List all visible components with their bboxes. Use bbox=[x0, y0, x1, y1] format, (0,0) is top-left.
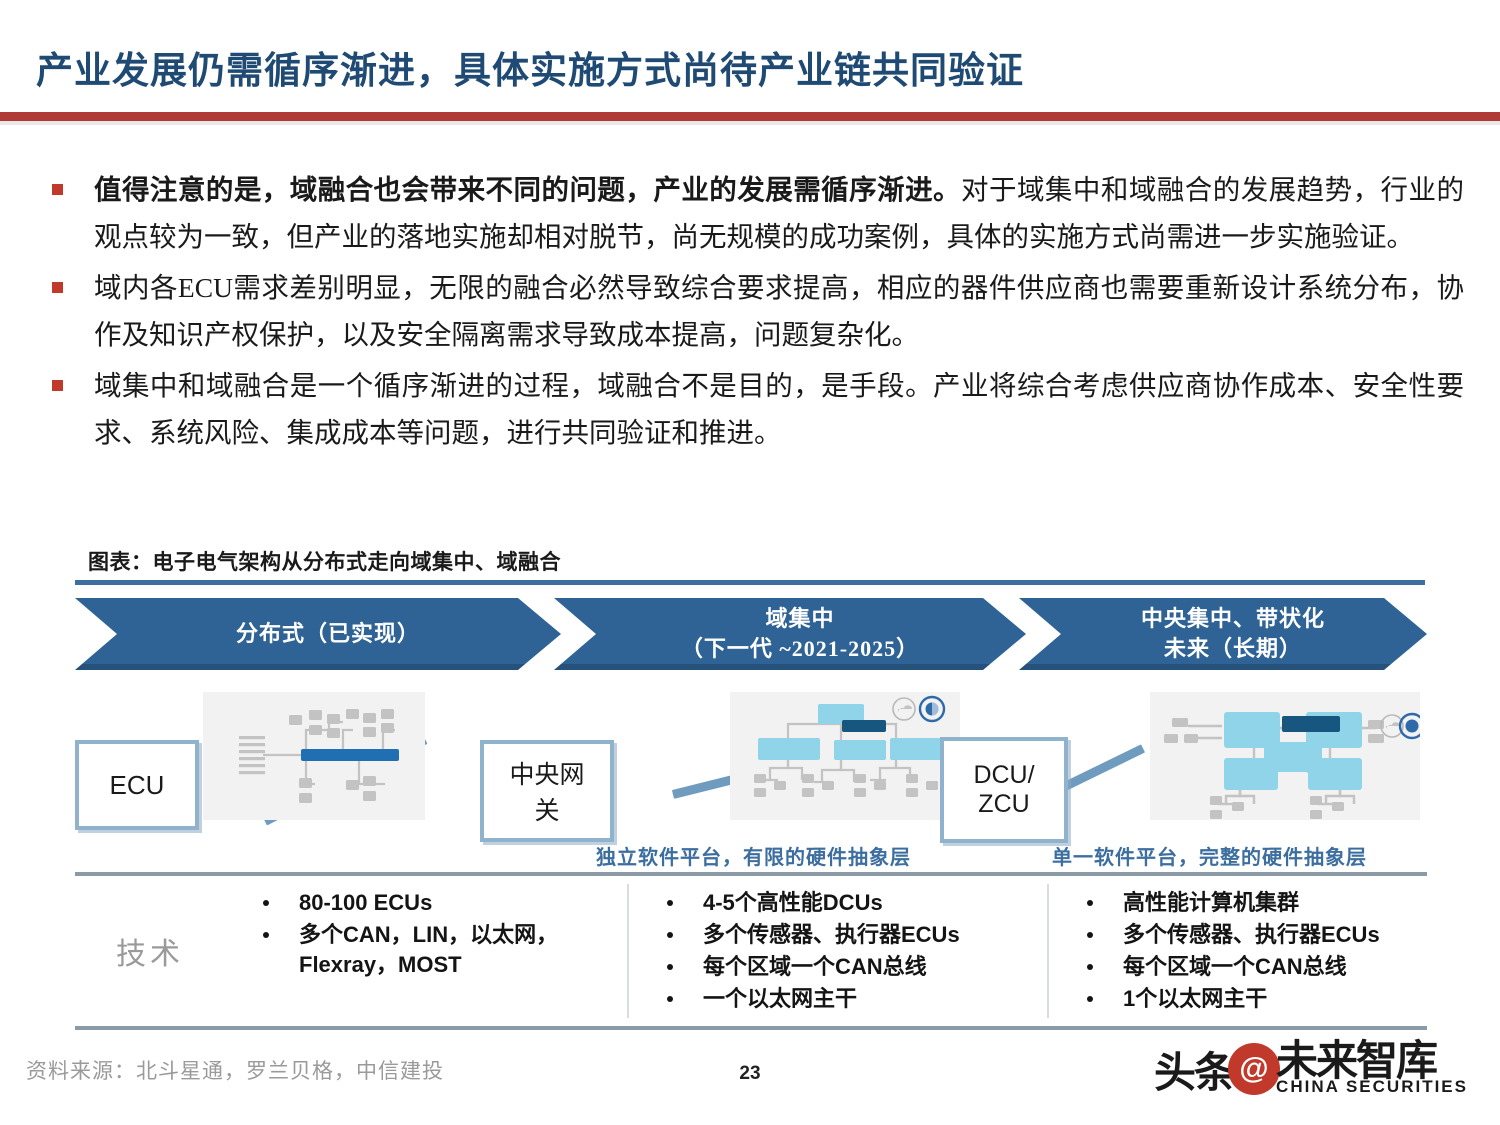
list-item: 4-5个高性能DCUs bbox=[629, 888, 1049, 918]
bullet-bold-text: 值得注意的是，域融合也会带来不同的问题，产业的发展需循序渐进。 bbox=[94, 174, 961, 205]
diagram-thumb-domain-centralized bbox=[730, 692, 960, 820]
table-bottom-rule bbox=[75, 1026, 1427, 1030]
list-item-label: 多个传感器、执行器ECUs bbox=[1123, 920, 1427, 950]
list-item-label: 高性能计算机集群 bbox=[1123, 888, 1427, 918]
logo-right-group: 未来智库 CHINA SECURITIES bbox=[1276, 1041, 1468, 1097]
table-row-label: 技术 bbox=[75, 876, 225, 1026]
stage-label-line1: 分布式（已实现） bbox=[236, 619, 420, 649]
header-rule bbox=[0, 112, 1500, 121]
cloud-icon bbox=[893, 698, 915, 720]
chevron-shadow bbox=[554, 664, 1026, 670]
annotation-central-zonal: 单一软件平台，完整的硬件抽象层 bbox=[1052, 841, 1367, 870]
connectivity-icon bbox=[920, 697, 944, 721]
list-item: 高性能计算机集群 bbox=[1049, 888, 1427, 918]
callout-label-line1: 中央网 bbox=[509, 755, 584, 791]
stage-banner: 分布式（已实现） 域集中 （下一代 ~2021-2025） 中央集中、带状化 未… bbox=[75, 598, 1427, 670]
logo-subtitle: CHINA SECURITIES bbox=[1276, 1077, 1468, 1097]
list-bullet-icon bbox=[667, 996, 673, 1002]
table-cell-distributed: 80-100 ECUs 多个CAN，LIN，以太网，Flexray，MOST bbox=[225, 876, 629, 1026]
callout-ecu: ECU bbox=[75, 740, 199, 830]
list-item-label: 多个传感器、执行器ECUs bbox=[703, 920, 1049, 950]
page-title: 产业发展仍需循序渐进，具体实施方式尚待产业链共同验证 bbox=[36, 40, 1336, 94]
slide-root: 产业发展仍需循序渐进，具体实施方式尚待产业链共同验证 值得注意的是，域融合也会带… bbox=[0, 0, 1500, 1125]
technology-table: 技术 80-100 ECUs 多个CAN，LIN，以太网，Flexray，MOS… bbox=[75, 872, 1427, 1030]
bullet-list: 值得注意的是，域融合也会带来不同的问题，产业的发展需循序渐进。对于域集中和域融合… bbox=[52, 166, 1464, 460]
list-item: 每个区域一个CAN总线 bbox=[1049, 952, 1427, 982]
bullet-item: 域内各ECU需求差别明显，无限的融合必然导致综合要求提高，相应的器件供应商也需要… bbox=[52, 264, 1464, 358]
table-cell-central-zonal: 高性能计算机集群 多个传感器、执行器ECUs 每个区域一个CAN总线 1个以太网… bbox=[1049, 876, 1427, 1026]
seal-icon: @ bbox=[1228, 1043, 1280, 1095]
bullet-item: 域集中和域融合是一个循序渐进的过程，域融合不是目的，是手段。产业将综合考虑供应商… bbox=[52, 362, 1464, 456]
list-bullet-icon bbox=[1087, 996, 1093, 1002]
stage-chevron-central-zonal: 中央集中、带状化 未来（长期） bbox=[1019, 598, 1427, 670]
list-item-label: 每个区域一个CAN总线 bbox=[1123, 952, 1427, 982]
chevron-shadow bbox=[1019, 664, 1427, 670]
bullet-item: 值得注意的是，域融合也会带来不同的问题，产业的发展需循序渐进。对于域集中和域融合… bbox=[52, 166, 1464, 260]
callout-label-line1: DCU/ bbox=[973, 761, 1034, 790]
list-item-label: 一个以太网主干 bbox=[703, 984, 1049, 1014]
figure-caption: 图表：电子电气架构从分布式走向域集中、域融合 bbox=[88, 546, 561, 576]
bullet-text: 域内各ECU需求差别明显，无限的融合必然导致综合要求提高，相应的器件供应商也需要… bbox=[94, 264, 1464, 358]
logo-text-left: 头条 bbox=[1154, 1039, 1234, 1100]
stage-label-line2: （下一代 ~2021-2025） bbox=[681, 634, 919, 664]
list-item: 多个CAN，LIN，以太网，Flexray，MOST bbox=[225, 920, 629, 980]
diagram-thumb-central-zonal bbox=[1150, 692, 1420, 820]
header-rule-shadow bbox=[0, 121, 1500, 125]
stage-label-line1: 域集中 bbox=[681, 604, 919, 634]
stage-chevron-domain-centralized: 域集中 （下一代 ~2021-2025） bbox=[554, 598, 1026, 670]
list-item: 多个传感器、执行器ECUs bbox=[1049, 920, 1427, 950]
bullet-square-icon bbox=[52, 282, 63, 293]
stage-chevron-distributed: 分布式（已实现） bbox=[75, 598, 561, 670]
list-item-label: 多个CAN，LIN，以太网，Flexray，MOST bbox=[299, 920, 629, 980]
list-item: 每个区域一个CAN总线 bbox=[629, 952, 1049, 982]
bullet-rest-text: 域内各ECU需求差别明显，无限的融合必然导致综合要求提高，相应的器件供应商也需要… bbox=[94, 272, 1464, 350]
table-row: 技术 80-100 ECUs 多个CAN，LIN，以太网，Flexray，MOS… bbox=[75, 876, 1427, 1026]
list-bullet-icon bbox=[1087, 964, 1093, 970]
list-item-label: 1个以太网主干 bbox=[1123, 984, 1427, 1014]
figure-caption-rule bbox=[75, 580, 1425, 585]
bullet-square-icon bbox=[52, 184, 63, 195]
list-bullet-icon bbox=[667, 964, 673, 970]
callout-dcu-zcu: DCU/ ZCU bbox=[940, 737, 1068, 843]
chevron-shadow bbox=[75, 664, 561, 670]
publisher-logo: 头条 @ 未来智库 CHINA SECURITIES bbox=[1154, 1036, 1468, 1102]
bullet-text: 域集中和域融合是一个循序渐进的过程，域融合不是目的，是手段。产业将综合考虑供应商… bbox=[94, 362, 1464, 456]
stage-label-line2: 未来（长期） bbox=[1141, 634, 1325, 664]
table-cell-domain-centralized: 4-5个高性能DCUs 多个传感器、执行器ECUs 每个区域一个CAN总线 一个… bbox=[629, 876, 1049, 1026]
list-item: 一个以太网主干 bbox=[629, 984, 1049, 1014]
bullet-text: 值得注意的是，域融合也会带来不同的问题，产业的发展需循序渐进。对于域集中和域融合… bbox=[94, 166, 1464, 260]
list-item-label: 4-5个高性能DCUs bbox=[703, 888, 1049, 918]
list-bullet-icon bbox=[263, 900, 269, 906]
distributed-architecture-svg bbox=[203, 692, 425, 820]
list-item: 80-100 ECUs bbox=[225, 888, 629, 918]
diagram-thumb-distributed bbox=[203, 692, 425, 820]
central-zonal-architecture-svg bbox=[1150, 692, 1420, 820]
domain-centralized-architecture-svg bbox=[730, 692, 960, 820]
callout-central-gateway: 中央网 关 bbox=[480, 740, 614, 842]
list-bullet-icon bbox=[263, 932, 269, 938]
list-item: 1个以太网主干 bbox=[1049, 984, 1427, 1014]
list-item: 多个传感器、执行器ECUs bbox=[629, 920, 1049, 950]
list-bullet-icon bbox=[1087, 932, 1093, 938]
callout-label-line2: 关 bbox=[509, 791, 584, 827]
list-item-label: 每个区域一个CAN总线 bbox=[703, 952, 1049, 982]
list-bullet-icon bbox=[1087, 900, 1093, 906]
annotation-domain-centralized: 独立软件平台，有限的硬件抽象层 bbox=[596, 841, 911, 870]
bullet-rest-text: 域集中和域融合是一个循序渐进的过程，域融合不是目的，是手段。产业将综合考虑供应商… bbox=[94, 370, 1464, 448]
stage-label-line1: 中央集中、带状化 bbox=[1141, 604, 1325, 634]
bullet-square-icon bbox=[52, 380, 63, 391]
callout-label-line2: ZCU bbox=[973, 790, 1034, 819]
callout-label-line1: ECU bbox=[110, 770, 165, 801]
list-bullet-icon bbox=[667, 900, 673, 906]
list-bullet-icon bbox=[667, 932, 673, 938]
list-item-label: 80-100 ECUs bbox=[299, 888, 629, 918]
